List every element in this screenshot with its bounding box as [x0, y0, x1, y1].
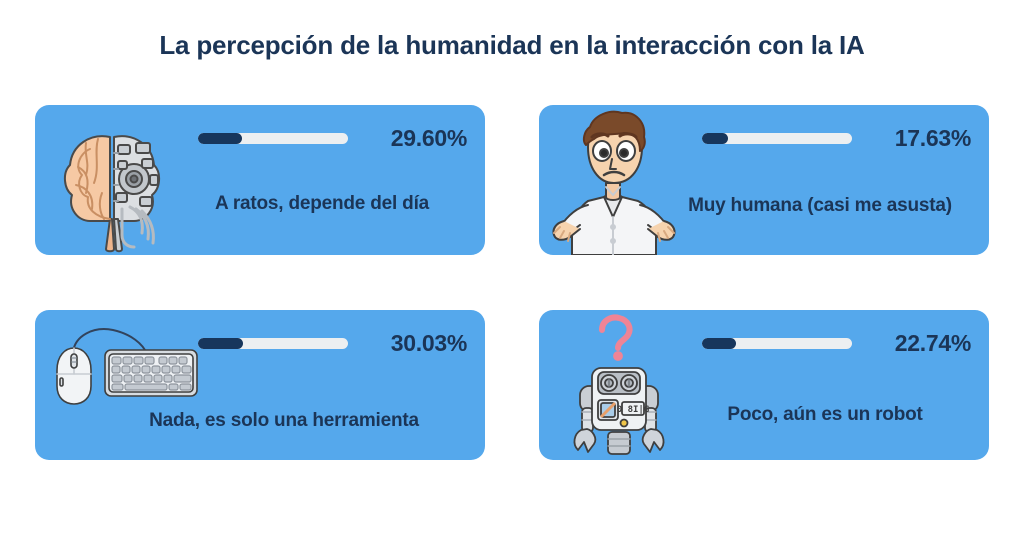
progress-row: 22.74% — [702, 328, 971, 358]
progress-fill — [702, 338, 736, 349]
progress-row: 29.60% — [198, 123, 467, 153]
progress-fill — [702, 133, 728, 144]
option-label: A ratos, depende del día — [171, 193, 473, 215]
option-card-muy-humana[interactable]: 17.63% Muy humana (casi me asusta) — [539, 105, 989, 255]
percent-value: 29.60% — [348, 127, 467, 150]
mouse-and-keyboard-icon — [43, 320, 203, 406]
options-grid: 29.60% A ratos, depende del día — [35, 105, 989, 460]
percent-value: 30.03% — [348, 332, 467, 355]
option-card-nada-herramienta[interactable]: 30.03% Nada, es solo una herramienta — [35, 310, 485, 460]
option-label: Muy humana (casi me asusta) — [657, 195, 983, 217]
progress-fill — [198, 338, 243, 349]
progress-track — [702, 133, 852, 144]
robot-with-question-mark-icon: 0 8I|G — [553, 310, 683, 462]
progress-track — [198, 133, 348, 144]
percent-value: 17.63% — [852, 127, 971, 150]
svg-text:0 8I|G: 0 8I|G — [617, 405, 650, 415]
half-brain-half-circuit-icon — [47, 105, 177, 255]
option-label: Nada, es solo una herramienta — [95, 410, 473, 432]
option-label: Poco, aún es un robot — [679, 404, 971, 426]
progress-row: 30.03% — [198, 328, 467, 358]
page-title: La percepción de la humanidad en la inte… — [0, 30, 1024, 61]
option-card-poco-robot[interactable]: 0 8I|G 22.74% Poco, aún es un robot — [539, 310, 989, 460]
progress-fill — [198, 133, 242, 144]
progress-row: 17.63% — [702, 123, 971, 153]
option-card-a-ratos[interactable]: 29.60% A ratos, depende del día — [35, 105, 485, 255]
infographic-page: La percepción de la humanidad en la inte… — [0, 0, 1024, 559]
progress-track — [702, 338, 852, 349]
confused-shrugging-man-icon — [551, 105, 681, 255]
progress-track — [198, 338, 348, 349]
percent-value: 22.74% — [852, 332, 971, 355]
